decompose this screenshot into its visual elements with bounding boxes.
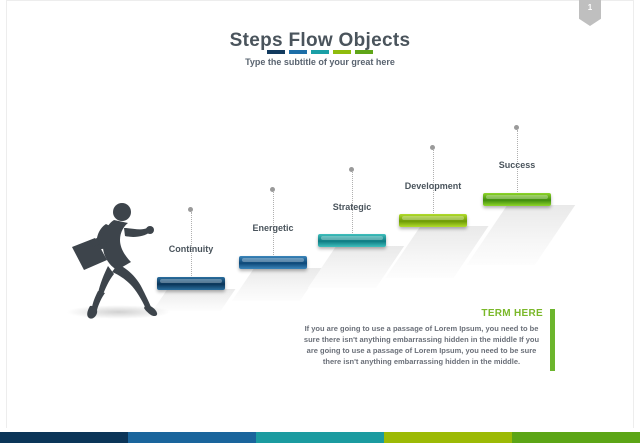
rule-green [355,50,373,54]
step-dot-4 [430,145,435,150]
rule-teal [311,50,329,54]
step-bar-1[interactable] [157,277,225,290]
strip-teal [256,432,384,443]
step-label-2: Energetic [239,223,307,233]
step-dot-1 [188,207,193,212]
strip-blue [128,432,256,443]
step-dot-3 [349,167,354,172]
strip-navy [0,432,128,443]
strip-green [512,432,640,443]
slide-title: Steps Flow Objects [0,30,640,52]
term-heading: TERM HERE [300,308,543,319]
term-accent-bar [550,309,555,371]
rule-navy [267,50,285,54]
slide-subtitle: Type the subtitle of your great here [0,57,640,67]
slide-canvas: 1 Steps Flow Objects Type the subtitle o… [0,0,640,443]
step-dot-2 [270,187,275,192]
term-body-text: If you are going to use a passage of Lor… [300,323,543,367]
running-businessman-icon [62,198,167,323]
step-bar-5[interactable] [483,193,551,206]
bottom-color-strip [0,432,640,443]
step-bar-3[interactable] [318,234,386,247]
page-number-badge: 1 [579,0,601,26]
step-label-4: Development [391,181,475,191]
step-label-3: Strategic [318,202,386,212]
step-shadow-4 [385,226,488,278]
rule-blue [289,50,307,54]
step-bar-4[interactable] [399,214,467,227]
step-label-1: Continuity [157,244,225,254]
strip-lime [384,432,512,443]
step-shadow-3 [308,246,404,288]
slide-frame-top-edge [6,0,634,1]
rule-lime [333,50,351,54]
title-rule-row [0,50,640,54]
step-label-5: Success [483,160,551,170]
step-dot-5 [514,125,519,130]
step-shadow-5 [467,205,575,265]
step-bar-2[interactable] [239,256,307,269]
